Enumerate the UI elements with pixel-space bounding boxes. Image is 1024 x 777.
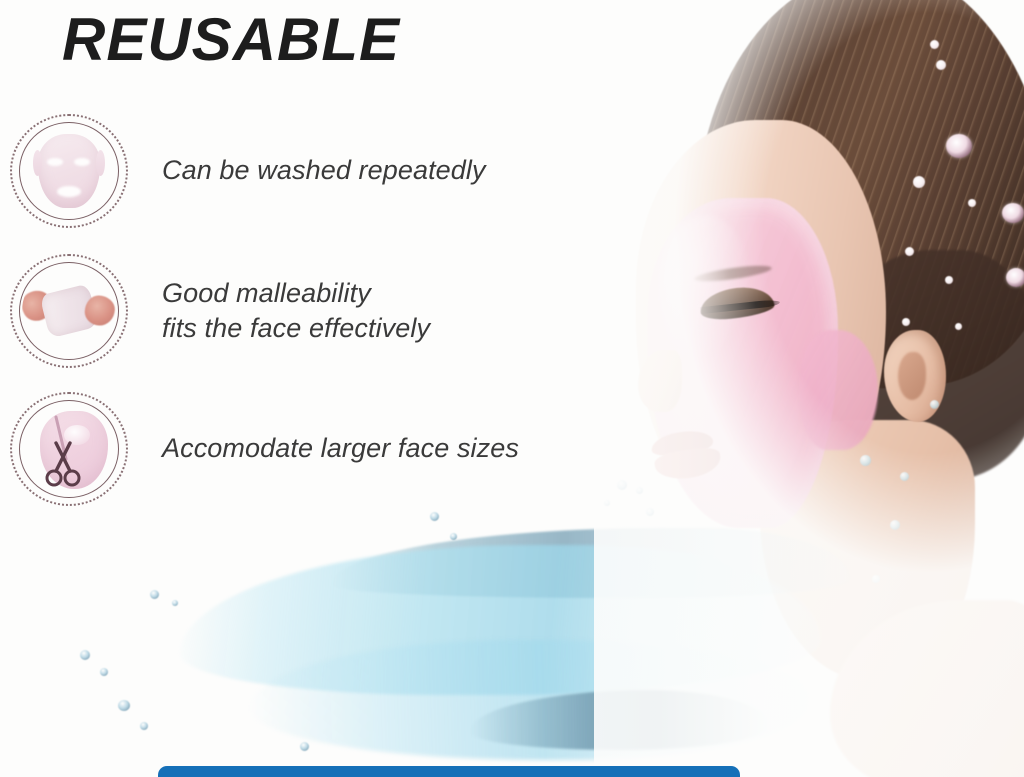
water-splash-wave [180,545,820,695]
feature-badge [8,112,130,230]
nose [638,350,682,412]
feature-label: Good malleability fits the face effectiv… [162,276,430,346]
hair-flower-icon [946,134,972,158]
ear-inner [898,352,926,400]
shoulder [830,600,1024,777]
water-droplet [140,722,148,730]
water-droplet [646,508,654,516]
water-splash-shadow [470,690,770,750]
feature-item-face-sizes: Accomodate larger face sizes [8,390,519,508]
hair-strand-texture [672,0,1024,405]
upper-lip [650,427,715,458]
water-droplet [80,650,90,660]
water-droplet [118,700,130,711]
bottom-action-bar[interactable] [158,766,740,777]
water-droplet [150,590,159,599]
hair-pearl-icon [945,276,953,284]
hair-pearl-icon [905,247,914,256]
water-droplet [872,575,880,583]
water-droplet [100,668,108,676]
hair [672,0,1024,405]
scissors-cutting-mask-icon [22,403,116,495]
eyebrow [694,263,773,285]
face-skin [636,120,886,520]
water-splash-crest [330,528,850,598]
feature-label: Accomodate larger face sizes [162,431,519,466]
feature-badge [8,252,130,370]
water-droplet [617,480,627,490]
hair-pearl-icon [968,199,976,207]
pink-silicone-mask [648,198,838,528]
hair-pearl-icon [955,323,962,330]
water-droplet [604,500,610,506]
product-advertisement: REUSABLE Can be washed repeatedly [0,0,1024,777]
hair-pearl-icon [902,318,910,326]
hair-pearl-icon [913,176,925,188]
hair-flower-icon [1006,268,1024,287]
water-droplet [450,533,457,540]
water-droplet [890,520,900,530]
hair-pearl-icon [930,40,939,49]
water-droplet [930,400,939,409]
water-droplet [430,512,439,521]
water-droplet [860,455,871,466]
mask-highlight [660,215,752,365]
hair-flower-icon [1002,203,1024,223]
hair-pearl-icon [936,60,946,70]
feature-badge [8,390,130,508]
feature-item-malleability: Good malleability fits the face effectiv… [8,252,430,370]
feature-label: Can be washed repeatedly [162,153,486,188]
neck [760,420,975,680]
water-droplet [900,472,909,481]
eyelash [700,299,780,314]
hair-lower-mass [830,250,1024,480]
water-droplet [172,600,178,606]
stretching-mask-hands-icon [22,265,116,357]
water-droplet [300,742,309,751]
photo-vignette [594,0,1024,777]
ear [884,330,946,422]
feature-item-washable: Can be washed repeatedly [8,112,486,230]
mask-side-flap [800,330,878,450]
closed-eye [699,284,776,322]
face-mask-sheet-icon [22,125,116,217]
lower-lip [653,445,723,483]
water-droplet [636,487,643,494]
water-splash-lower [250,640,810,760]
page-title: REUSABLE [62,10,400,70]
